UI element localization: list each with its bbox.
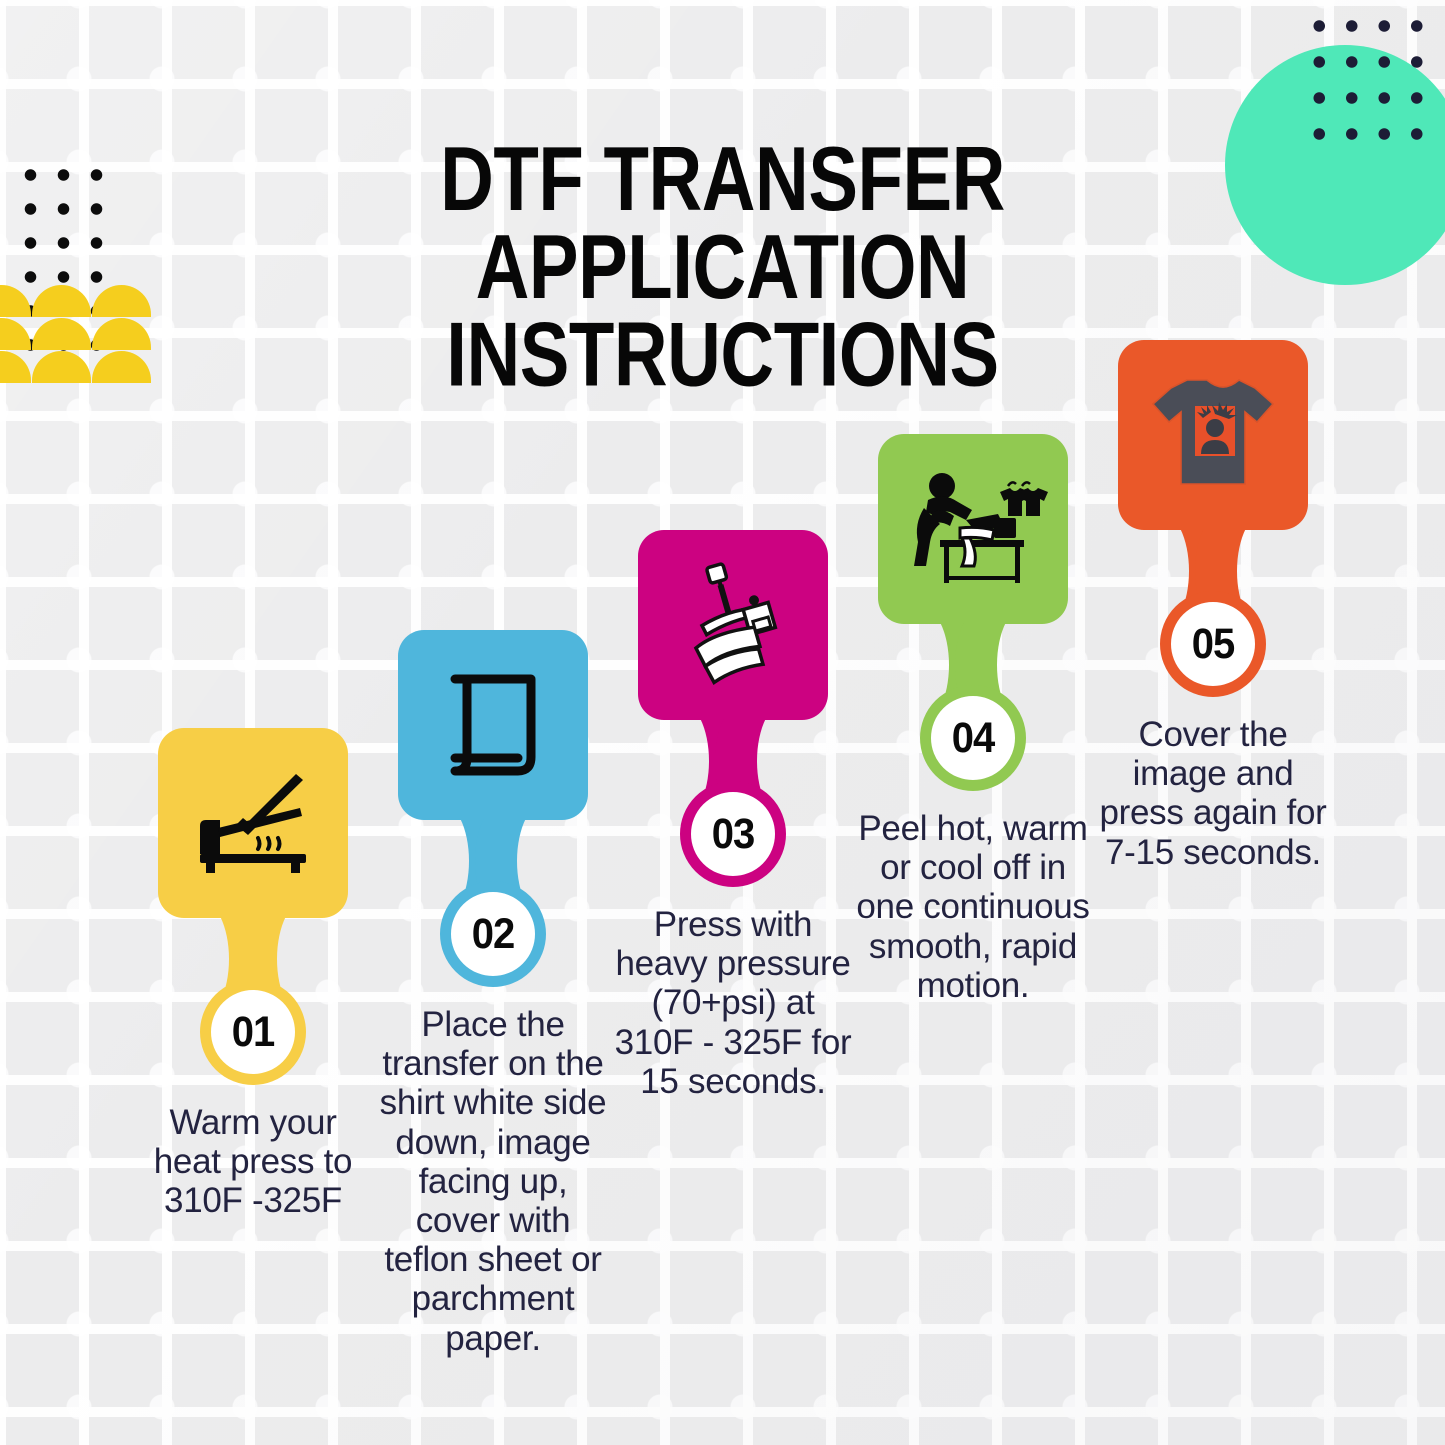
icon-card-05 (1118, 340, 1308, 530)
step-card-01: 01 Warm your heat press to 310F -325F (128, 728, 378, 1221)
step-card-05: 05 Cover the image and press again for 7… (1088, 340, 1338, 872)
step-number-05: 05 (1192, 620, 1235, 668)
step-number-02: 02 (472, 910, 515, 958)
icon-card-03 (638, 530, 828, 720)
printed-tshirt-icon (1143, 370, 1283, 500)
icon-card-01 (158, 728, 348, 918)
step-number-01: 01 (232, 1008, 275, 1056)
step-number-badge-04: 04 (920, 685, 1026, 791)
heat-press-machine-icon (663, 555, 803, 695)
icon-card-04 (878, 434, 1068, 624)
step-card-03: 03 Press with heavy pressure (70+psi) at… (608, 530, 858, 1101)
heat-press-open-icon (188, 768, 318, 878)
step-number-03: 03 (712, 810, 755, 858)
step-description-05: Cover the image and press again for 7-15… (1088, 715, 1338, 872)
transfer-sheet-icon (433, 665, 553, 785)
icon-card-02 (398, 630, 588, 820)
peel-transfer-person-icon (898, 464, 1048, 594)
step-number-badge-03: 03 (680, 781, 786, 887)
step-description-03: Press with heavy pressure (70+psi) at 31… (608, 905, 858, 1101)
step-description-01: Warm your heat press to 310F -325F (128, 1103, 378, 1221)
step-description-04: Peel hot, warm or cool off in one contin… (848, 809, 1098, 1005)
step-description-02: Place the transfer on the shirt white si… (368, 1005, 618, 1358)
step-number-04: 04 (952, 714, 995, 762)
step-number-badge-02: 02 (440, 881, 546, 987)
step-number-badge-05: 05 (1160, 591, 1266, 697)
steps-container: 01 Warm your heat press to 310F -325F 02… (0, 0, 1445, 1445)
step-number-badge-01: 01 (200, 979, 306, 1085)
step-card-04: 04 Peel hot, warm or cool off in one con… (848, 434, 1098, 1005)
step-card-02: 02 Place the transfer on the shirt white… (368, 630, 618, 1358)
